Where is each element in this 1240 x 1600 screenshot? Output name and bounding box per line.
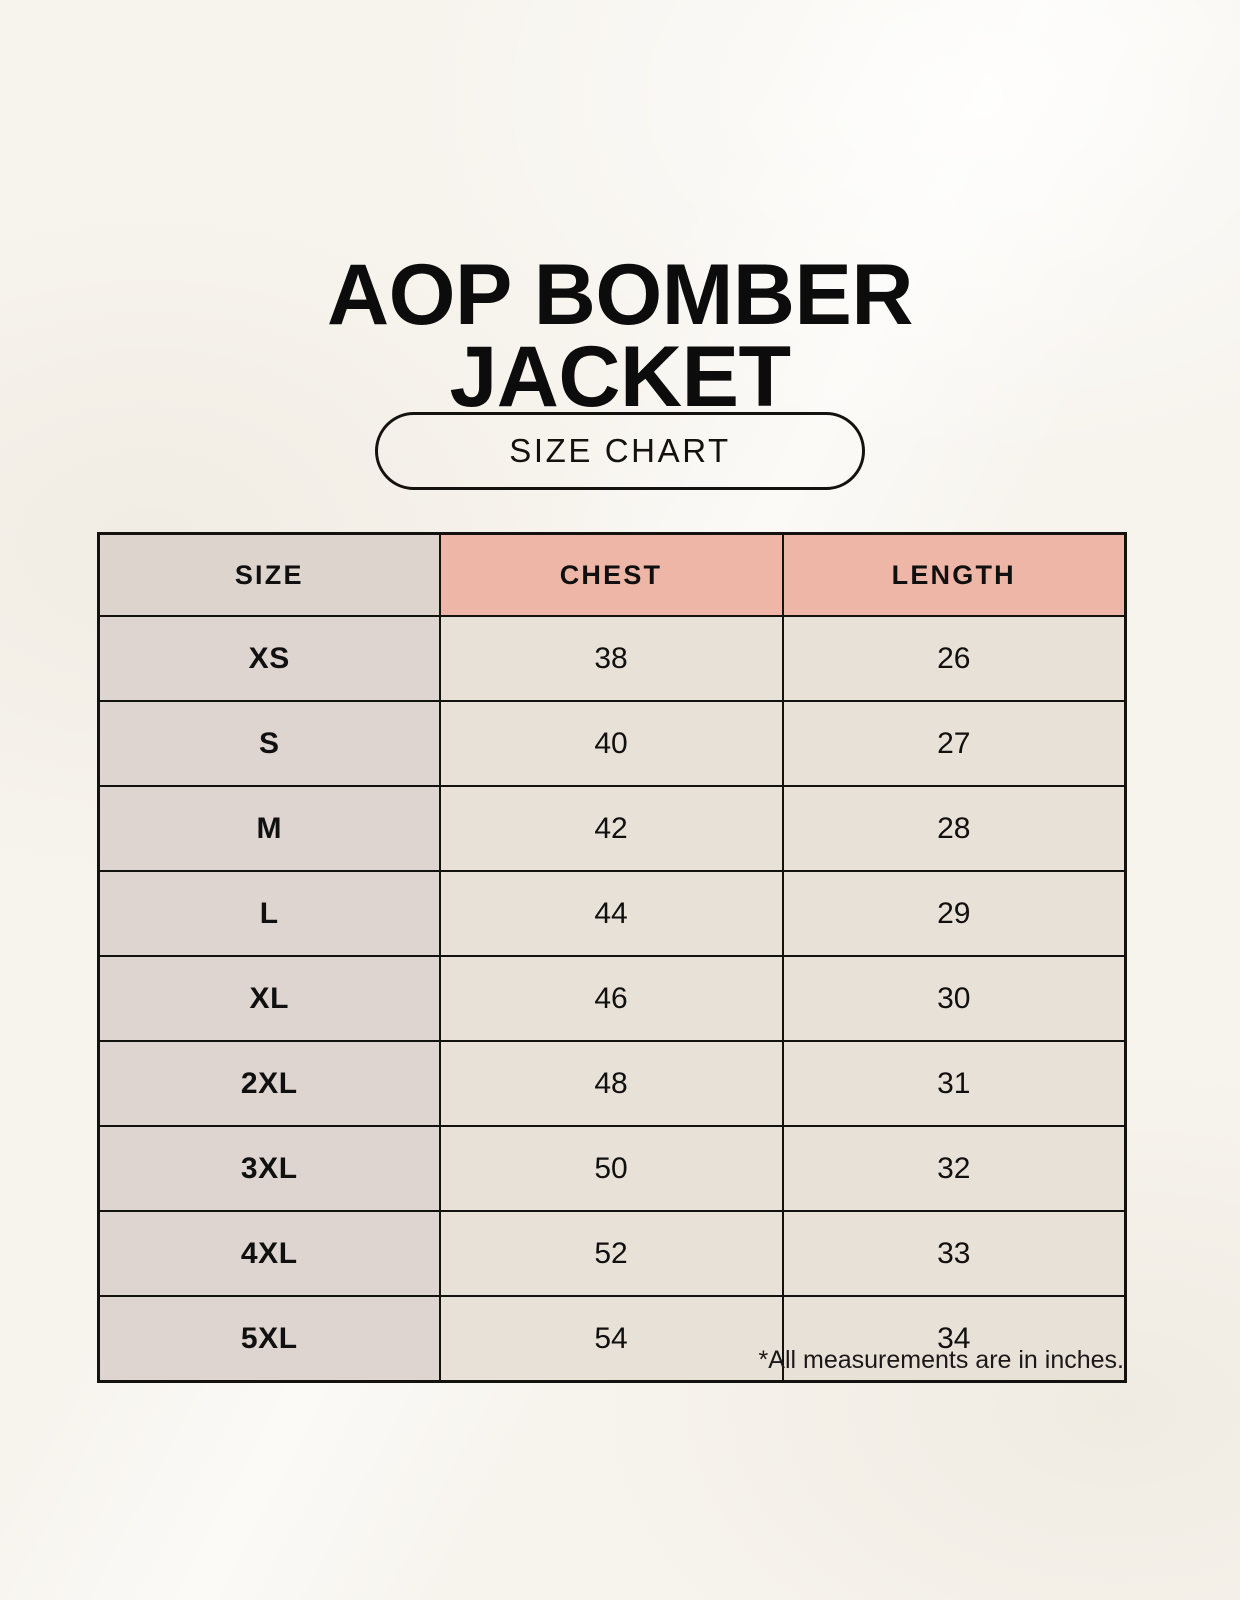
cell-length: 30 — [783, 956, 1126, 1041]
table-row: S4027 — [99, 701, 1126, 786]
table-row: XL4630 — [99, 956, 1126, 1041]
size-chart-badge-container: SIZE CHART — [0, 412, 1240, 490]
page-title-line-2: JACKET — [0, 336, 1240, 419]
cell-length: 32 — [783, 1126, 1126, 1211]
column-header-size: SIZE — [99, 534, 440, 617]
cell-chest: 50 — [440, 1126, 783, 1211]
cell-chest: 42 — [440, 786, 783, 871]
cell-length: 26 — [783, 616, 1126, 701]
cell-size: 2XL — [99, 1041, 440, 1126]
cell-size: 4XL — [99, 1211, 440, 1296]
cell-chest: 44 — [440, 871, 783, 956]
column-header-length: LENGTH — [783, 534, 1126, 617]
cell-size: S — [99, 701, 440, 786]
cell-length: 33 — [783, 1211, 1126, 1296]
cell-chest: 52 — [440, 1211, 783, 1296]
size-table: SIZE CHEST LENGTH XS3826S4027M4228L4429X… — [97, 532, 1127, 1383]
table-row: L4429 — [99, 871, 1126, 956]
size-chart-page: AOP BOMBER JACKET SIZE CHART SIZE CHEST … — [0, 0, 1240, 1600]
measurement-footnote: *All measurements are in inches. — [97, 1346, 1124, 1375]
cell-chest: 48 — [440, 1041, 783, 1126]
cell-size: L — [99, 871, 440, 956]
table-row: 2XL4831 — [99, 1041, 1126, 1126]
cell-chest: 46 — [440, 956, 783, 1041]
page-title-line-1: AOP BOMBER — [0, 254, 1240, 337]
cell-size: XL — [99, 956, 440, 1041]
size-chart-badge-label: SIZE CHART — [509, 432, 731, 470]
size-table-body: XS3826S4027M4228L4429XL46302XL48313XL503… — [99, 616, 1126, 1382]
cell-chest: 38 — [440, 616, 783, 701]
cell-size: M — [99, 786, 440, 871]
size-table-container: SIZE CHEST LENGTH XS3826S4027M4228L4429X… — [97, 532, 1124, 1383]
cell-length: 28 — [783, 786, 1126, 871]
size-chart-badge: SIZE CHART — [375, 412, 865, 490]
page-title: AOP BOMBER JACKET — [0, 254, 1240, 419]
cell-length: 29 — [783, 871, 1126, 956]
table-row: M4228 — [99, 786, 1126, 871]
cell-length: 31 — [783, 1041, 1126, 1126]
table-row: 4XL5233 — [99, 1211, 1126, 1296]
table-row: XS3826 — [99, 616, 1126, 701]
cell-length: 27 — [783, 701, 1126, 786]
cell-size: XS — [99, 616, 440, 701]
column-header-chest: CHEST — [440, 534, 783, 617]
cell-size: 3XL — [99, 1126, 440, 1211]
cell-chest: 40 — [440, 701, 783, 786]
table-row: 3XL5032 — [99, 1126, 1126, 1211]
table-header-row: SIZE CHEST LENGTH — [99, 534, 1126, 617]
size-table-header: SIZE CHEST LENGTH — [99, 534, 1126, 617]
